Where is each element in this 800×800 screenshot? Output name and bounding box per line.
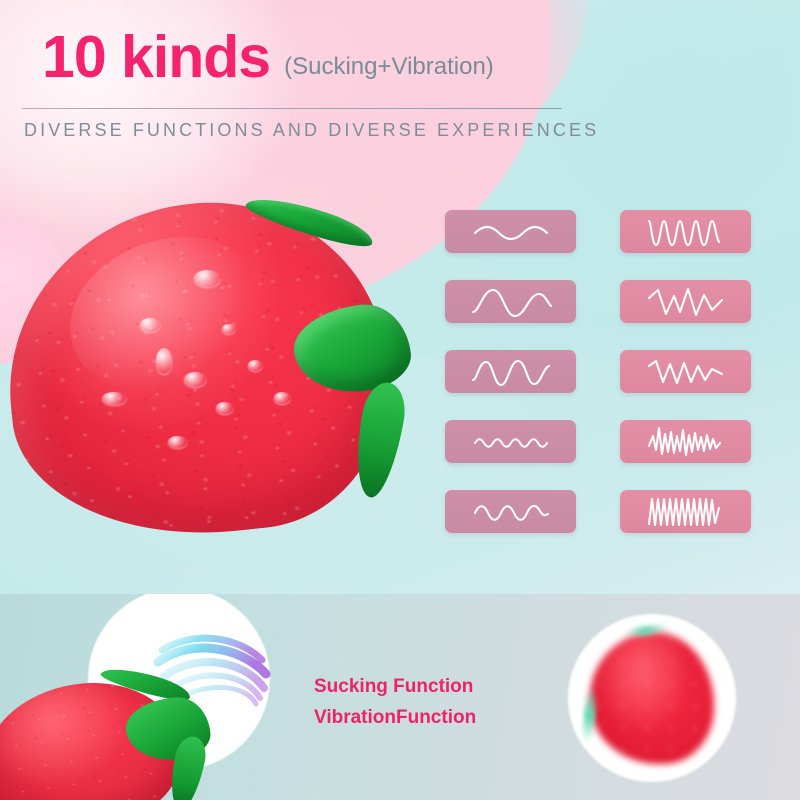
- header-divider: [22, 108, 562, 109]
- mode-badge-fine-ripple[interactable]: [445, 420, 576, 463]
- mode-badge-irregular-spikes[interactable]: [620, 420, 751, 463]
- leaf-icon: [243, 188, 377, 254]
- waveform-icon: [469, 282, 553, 322]
- mode-badge-rapid-pulse[interactable]: [620, 210, 751, 253]
- mode-badge-double-large-sine[interactable]: [445, 350, 576, 393]
- headline-note: (Sucking+Vibration): [284, 53, 494, 81]
- water-droplet: [168, 436, 187, 448]
- strawberry-calyx: [236, 198, 384, 294]
- waveform-icon: [469, 352, 553, 392]
- mode-badge-dense-sawtooth[interactable]: [620, 490, 751, 533]
- function-label-sucking: Sucking Function: [314, 672, 476, 703]
- water-droplet: [102, 392, 126, 405]
- surface-closeup-inset: [568, 614, 736, 782]
- water-droplet: [274, 392, 290, 404]
- tagline: DIVERSE FUNCTIONS AND DIVERSE EXPERIENCE…: [24, 120, 599, 141]
- water-droplet: [194, 270, 220, 287]
- waveform-icon: [644, 282, 728, 322]
- waveform-icon: [644, 212, 728, 252]
- mode-badge-gentle-slow-wave[interactable]: [445, 210, 576, 253]
- top-panel: 10 kinds (Sucking+Vibration) DIVERSE FUN…: [0, 0, 800, 594]
- mode-badge-decaying-zigzag[interactable]: [620, 350, 751, 393]
- waveform-icon: [644, 422, 728, 462]
- waveform-icon: [469, 492, 553, 532]
- water-droplet: [248, 360, 262, 371]
- water-droplet: [184, 372, 206, 387]
- function-labels: Sucking Function VibrationFunction: [314, 672, 476, 734]
- waveform-icon: [469, 212, 553, 252]
- waveform-icon: [469, 422, 553, 462]
- product-feature-banner: 10 kinds (Sucking+Vibration) DIVERSE FUN…: [0, 0, 800, 800]
- mode-badge-single-large-sine[interactable]: [445, 280, 576, 323]
- waveform-icon: [644, 492, 728, 532]
- waveform-icon: [644, 352, 728, 392]
- strawberry-calyx: [96, 668, 204, 748]
- water-droplet: [140, 318, 160, 332]
- strawberry-secondary-image: [0, 668, 210, 800]
- mode-badge-sharp-zigzag[interactable]: [620, 280, 751, 323]
- water-droplet: [156, 348, 172, 374]
- mode-badge-medium-wave[interactable]: [445, 490, 576, 533]
- page-title: 10 kinds: [42, 28, 270, 87]
- water-droplet: [222, 324, 235, 334]
- strawberry-product-image: [8, 196, 420, 542]
- strawberry-closeup-texture: [590, 632, 714, 764]
- headline-row: 10 kinds (Sucking+Vibration): [42, 28, 494, 87]
- water-droplet: [216, 402, 233, 414]
- function-label-vibration: VibrationFunction: [314, 703, 476, 734]
- vibration-mode-grid: [445, 210, 755, 535]
